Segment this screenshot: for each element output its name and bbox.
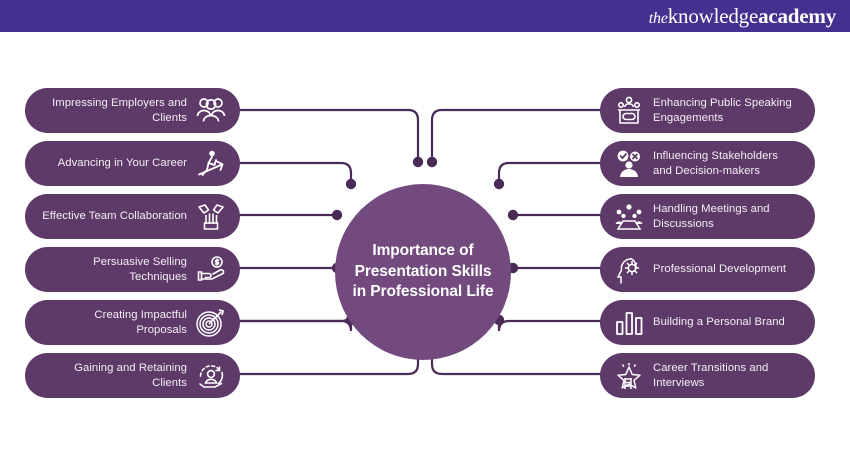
hands-together-icon [194,200,228,234]
node-label: Advancing in Your Career [58,156,187,171]
node-advancing-in-your-career[interactable]: Advancing in Your Career [25,141,240,186]
node-label: Persuasive Selling Techniques [41,255,187,284]
mindmap-diagram: Importance of Presentation Skills in Pro… [0,32,850,450]
star-ladder-icon [612,359,646,393]
hand-holding-money-icon [194,253,228,287]
node-creating-impactful-proposals[interactable]: Creating Impactful Proposals [25,300,240,345]
node-label: Building a Personal Brand [653,315,785,330]
node-label: Career Transitions and Interviews [653,361,799,390]
node-building-a-personal-brand[interactable]: Building a Personal Brand [600,300,815,345]
node-label: Influencing Stakeholders and Decision-ma… [653,149,799,178]
node-career-transitions-and-interviews[interactable]: Career Transitions and Interviews [600,353,815,398]
brand-logo-the: the [649,10,668,28]
brand-logo-knowledge: knowledge [668,4,758,29]
node-influencing-stakeholders-and-decision-makers[interactable]: Influencing Stakeholders and Decision-ma… [600,141,815,186]
node-professional-development[interactable]: Professional Development [600,247,815,292]
brand-logo[interactable]: theknowledgeacademy [649,4,836,29]
node-impressing-employers-and-clients[interactable]: Impressing Employers and Clients [25,88,240,133]
brand-logo-academy: academy [758,4,836,29]
node-label: Handling Meetings and Discussions [653,202,799,231]
customer-retention-icon [194,359,228,393]
center-node-title: Importance of Presentation Skills in Pro… [335,241,511,303]
header-bar: theknowledgeacademy [0,0,850,32]
node-label: Gaining and Retaining Clients [41,361,187,390]
node-gaining-and-retaining-clients[interactable]: Gaining and Retaining Clients [25,353,240,398]
center-node[interactable]: Importance of Presentation Skills in Pro… [335,184,511,360]
node-handling-meetings-and-discussions[interactable]: Handling Meetings and Discussions [600,194,815,239]
node-label: Creating Impactful Proposals [41,308,187,337]
person-climbing-arrow-icon [194,147,228,181]
target-spiral-icon [194,306,228,340]
node-label: Effective Team Collaboration [42,209,187,224]
node-persuasive-selling-techniques[interactable]: Persuasive Selling Techniques [25,247,240,292]
person-decision-check-cross-icon [612,147,646,181]
node-effective-team-collaboration[interactable]: Effective Team Collaboration [25,194,240,239]
speaker-podium-icon [612,94,646,128]
node-label: Impressing Employers and Clients [41,96,187,125]
head-with-gear-icon [612,253,646,287]
meeting-table-icon [612,200,646,234]
node-label: Professional Development [653,262,786,277]
group-of-people-icon [194,94,228,128]
bar-chart-icon [612,306,646,340]
node-label: Enhancing Public Speaking Engagements [653,96,799,125]
node-enhancing-public-speaking-engagements[interactable]: Enhancing Public Speaking Engagements [600,88,815,133]
